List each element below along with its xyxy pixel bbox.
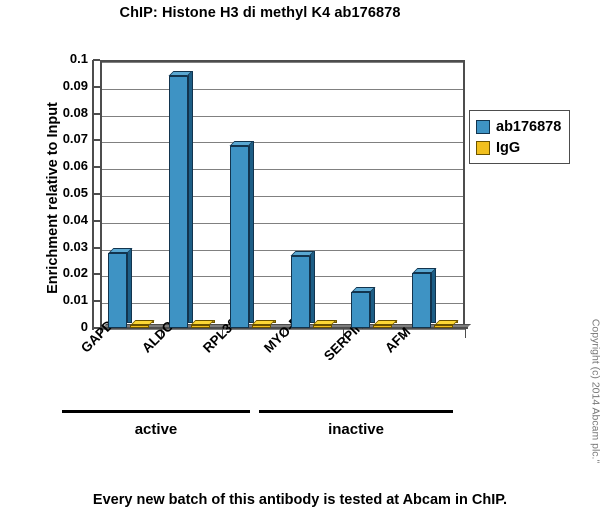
gridline (102, 169, 463, 170)
bar-front-face (291, 256, 310, 328)
y-axis-tick-label: 0.1 (34, 51, 88, 66)
legend-swatch-icon (476, 120, 490, 134)
bar-front-face (108, 253, 127, 328)
y-axis-tick-label: 0.01 (34, 292, 88, 307)
legend-swatch-icon (476, 141, 490, 155)
bar-side-face (249, 141, 254, 323)
bar-top-face (191, 320, 215, 325)
chart-title: ChIP: Histone H3 di methyl K4 ab176878 (0, 5, 520, 21)
plot-area (100, 60, 465, 328)
y-axis-tick-label: 0.09 (34, 78, 88, 93)
y-axis-tick-mark (93, 273, 100, 275)
bar-myo-d-ab176878 (291, 251, 315, 328)
gridline (102, 276, 463, 277)
bar-front-face (412, 273, 431, 328)
bar-afm-ab176878 (412, 268, 436, 328)
y-axis-tick-mark (93, 59, 100, 61)
y-axis-tick-mark (93, 220, 100, 222)
y-axis-tick-mark (93, 247, 100, 249)
legend-item-ab176878[interactable]: ab176878 (476, 116, 561, 137)
y-axis-tick-mark (93, 139, 100, 141)
legend: ab176878 IgG (469, 110, 570, 164)
y-axis-tick-label: 0.05 (34, 185, 88, 200)
bar-side-face (188, 71, 193, 323)
legend-item-igg[interactable]: IgG (476, 137, 561, 158)
gridline (102, 89, 463, 90)
gridline (102, 303, 463, 304)
bar-front-face (434, 325, 453, 328)
group-label-inactive: inactive (259, 421, 453, 438)
bar-serpina-ab176878 (351, 287, 375, 328)
bar-side-face (370, 287, 375, 323)
y-axis-tick-label: 0.02 (34, 265, 88, 280)
bar-front-face (169, 76, 188, 328)
y-axis-line (92, 60, 94, 330)
y-axis-tick-mark (93, 166, 100, 168)
gridline (102, 62, 463, 63)
bar-front-face (230, 146, 249, 328)
copyright-notice: Copyright (c) 2014 Abcam plc." (590, 299, 600, 484)
y-axis-tick-label: 0 (34, 319, 88, 334)
x-axis-tick-mark (465, 329, 466, 338)
y-axis-tick-mark (93, 300, 100, 302)
bar-top-face (373, 320, 397, 325)
bar-side-face (431, 268, 436, 323)
bar-front-face (130, 325, 149, 328)
group-rule-active (62, 410, 250, 413)
bar-front-face (351, 292, 370, 328)
y-axis-tick-mark (93, 86, 100, 88)
group-rule-inactive (259, 410, 453, 413)
y-axis-tick-mark (93, 113, 100, 115)
gridline (102, 250, 463, 251)
bar-top-face (313, 320, 337, 325)
legend-item-label: ab176878 (496, 119, 561, 135)
gridline (102, 116, 463, 117)
bar-side-face (127, 248, 132, 323)
figure-caption: Every new batch of this antibody is test… (0, 492, 600, 508)
bar-afm-igg (434, 320, 458, 328)
gridline (102, 196, 463, 197)
bar-rpl30-igg (252, 320, 276, 328)
bar-serpina-igg (373, 320, 397, 328)
bar-gapdh-ab176878 (108, 248, 132, 328)
y-axis-tick-label: 0.08 (34, 105, 88, 120)
bar-front-face (252, 325, 271, 328)
y-axis-tick-label: 0.04 (34, 212, 88, 227)
gridline (102, 142, 463, 143)
group-label-active: active (62, 421, 250, 438)
bar-myo-d-igg (313, 320, 337, 328)
bar-top-face (130, 320, 154, 325)
bar-front-face (313, 325, 332, 328)
bar-gapdh-igg (130, 320, 154, 328)
y-axis-tick-mark (93, 193, 100, 195)
bar-top-face (252, 320, 276, 325)
legend-item-label: IgG (496, 140, 520, 156)
y-axis-tick-label: 0.03 (34, 239, 88, 254)
bar-rpl30-ab176878 (230, 141, 254, 328)
gridline (102, 223, 463, 224)
plot-inner (102, 62, 463, 326)
bar-aldoa-igg (191, 320, 215, 328)
bar-front-face (191, 325, 210, 328)
bar-top-face (434, 320, 458, 325)
y-axis-tick-label: 0.06 (34, 158, 88, 173)
y-axis-tick-label: 0.07 (34, 131, 88, 146)
bar-aldoa-ab176878 (169, 71, 193, 328)
bar-front-face (373, 325, 392, 328)
bar-side-face (310, 251, 315, 323)
